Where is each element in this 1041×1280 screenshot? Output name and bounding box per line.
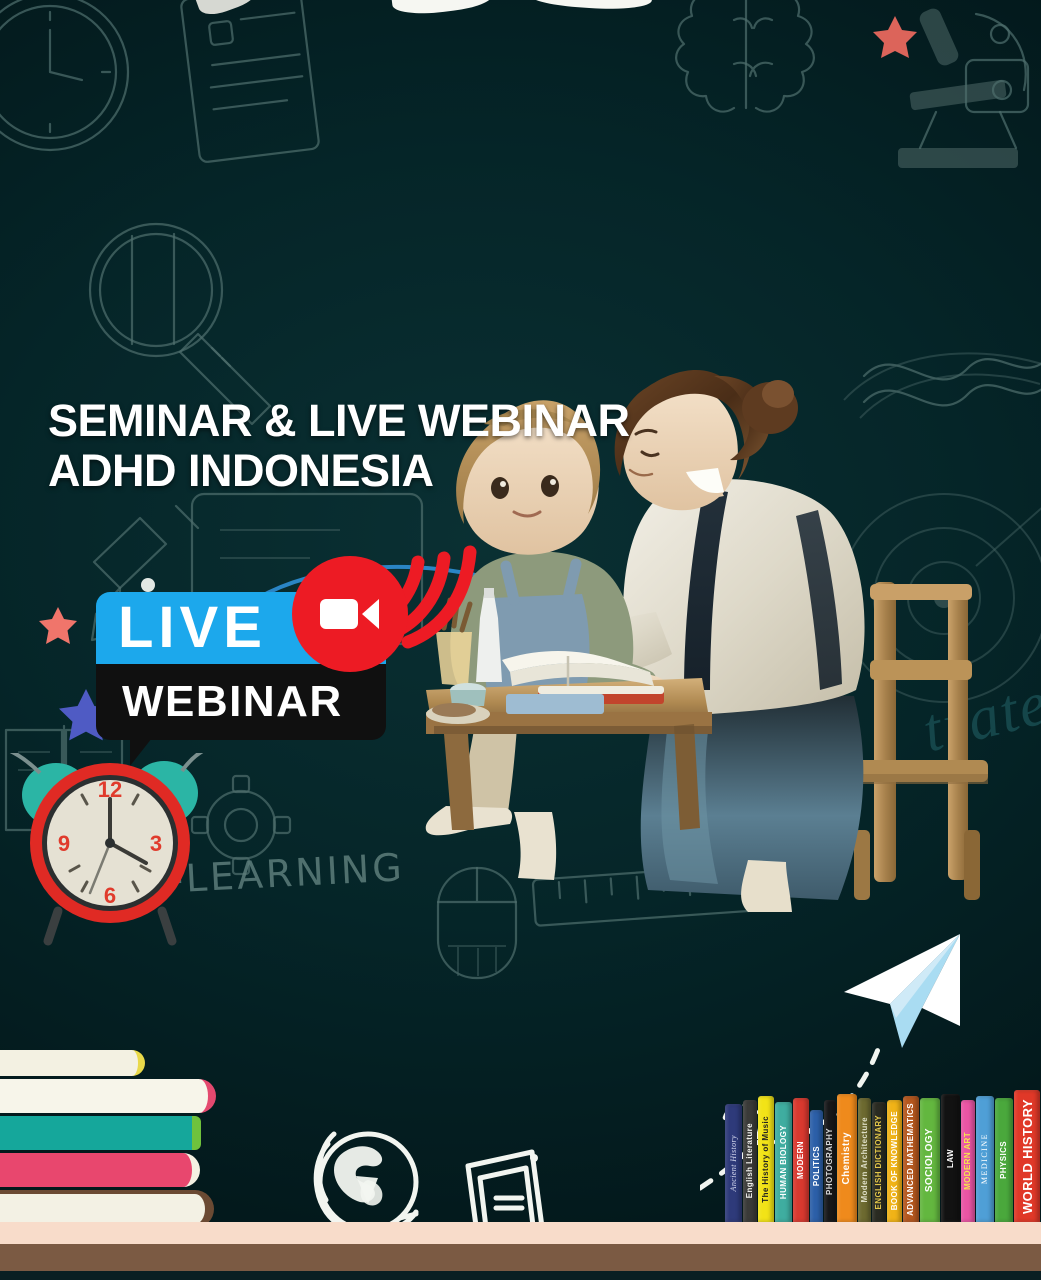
- book-spine-title: MODERN: [797, 1141, 805, 1179]
- stack-book: [0, 1116, 201, 1150]
- svg-text:6: 6: [104, 883, 116, 908]
- book-spine-title: BOOK OF KNOWLEDGE: [891, 1111, 899, 1210]
- page-title: SEMINAR & LIVE WEBINAR ADHD INDONESIA: [48, 396, 630, 497]
- clock-doodle-icon: [0, 0, 160, 182]
- book-spine-title: MODERN ART: [964, 1132, 972, 1190]
- bookshelf-row: Ancient HistoryEnglish LiteratureThe His…: [725, 1094, 1041, 1222]
- live-webinar-badge[interactable]: LIVE WEBINAR: [96, 592, 386, 740]
- svg-text:3: 3: [150, 831, 162, 856]
- clipboard-doodle-icon: [168, 0, 348, 178]
- book-spine: MEDICINE: [976, 1096, 994, 1222]
- book-spine: SOCIOLOGY: [920, 1098, 940, 1222]
- alarm-clock-icon: 12 3 6 9: [0, 753, 286, 1063]
- paper-plane-icon: [838, 930, 968, 1050]
- book-spine: PHOTOGRAPHY: [824, 1100, 836, 1222]
- book-spine-title: LAW: [947, 1149, 955, 1168]
- book-spine-title: ADVANCED MATHEMATICS: [907, 1103, 915, 1216]
- book-spine: English Literature: [743, 1100, 757, 1222]
- alarm-clock-and-books: 12 3 6 9: [0, 753, 286, 1228]
- top-torn-paper-2: [527, 0, 652, 12]
- book-spine-title: English Literature: [746, 1123, 754, 1198]
- badge-webinar-bar: WEBINAR: [96, 664, 386, 740]
- book-spine-title: WORLD HISTORY: [1021, 1099, 1034, 1214]
- webinar-poster: trateg E-LEARNING SEMINAR & LIVE WEBINAR…: [0, 0, 1041, 1280]
- chair: [848, 582, 988, 900]
- microscope-doodle-icon: [880, 0, 1041, 200]
- badge-webinar-label: WEBINAR: [122, 680, 343, 724]
- badge-live-label: LIVE: [118, 599, 267, 657]
- book-spine: MODERN: [793, 1098, 809, 1222]
- star-doodle-red-icon: [872, 14, 918, 62]
- book-spine: ADVANCED MATHEMATICS: [903, 1096, 919, 1222]
- book-spine-title: POLITICS: [813, 1146, 821, 1186]
- top-torn-paper-1: [391, 0, 493, 18]
- book-spine-title: PHYSICS: [1000, 1141, 1008, 1179]
- book-spine: Ancient History: [725, 1104, 742, 1222]
- book-spine: ENGLISH DICTIONARY: [872, 1102, 886, 1222]
- book-spine-title: PHOTOGRAPHY: [826, 1128, 834, 1195]
- star-red-icon: [38, 606, 78, 648]
- shelf-front-edge: [0, 1244, 1041, 1280]
- book-spine: WORLD HISTORY: [1014, 1090, 1040, 1222]
- book-spine: The History of Music: [758, 1096, 774, 1222]
- svg-text:9: 9: [58, 831, 70, 856]
- book-spine: MODERN ART: [961, 1100, 975, 1222]
- stack-book: [0, 1079, 216, 1113]
- stack-book: [0, 1050, 145, 1076]
- book-spine: PHYSICS: [995, 1098, 1013, 1222]
- book-spine-title: Modern Architecture: [861, 1117, 869, 1203]
- top-torn-paper-3: [193, 0, 262, 20]
- book-spine-title: SOCIOLOGY: [925, 1128, 935, 1192]
- book-spine: LAW: [941, 1094, 960, 1222]
- shelf-surface: [0, 1222, 1041, 1244]
- video-camera-badge[interactable]: [292, 556, 408, 672]
- brain-doodle-icon: [672, 0, 882, 192]
- video-camera-icon: [319, 594, 381, 634]
- book-spine: Chemistry: [837, 1094, 857, 1222]
- dot-decoration: [141, 578, 155, 592]
- book-spine-title: MEDICINE: [981, 1133, 989, 1184]
- book-spine: HUMAN BIOLOGY: [775, 1102, 792, 1222]
- book-spine-title: Ancient History: [730, 1135, 738, 1191]
- book-spine: BOOK OF KNOWLEDGE: [887, 1100, 902, 1222]
- book-spine-title: ENGLISH DICTIONARY: [875, 1115, 883, 1209]
- book-spine: POLITICS: [810, 1110, 823, 1222]
- book-stack: [0, 1050, 262, 1228]
- book-spine-title: The History of Music: [762, 1116, 770, 1203]
- book-spine: Modern Architecture: [858, 1098, 871, 1222]
- book-spine-title: HUMAN BIOLOGY: [780, 1125, 788, 1199]
- stack-book: [0, 1153, 200, 1187]
- book-spine-title: Chemistry: [842, 1132, 852, 1185]
